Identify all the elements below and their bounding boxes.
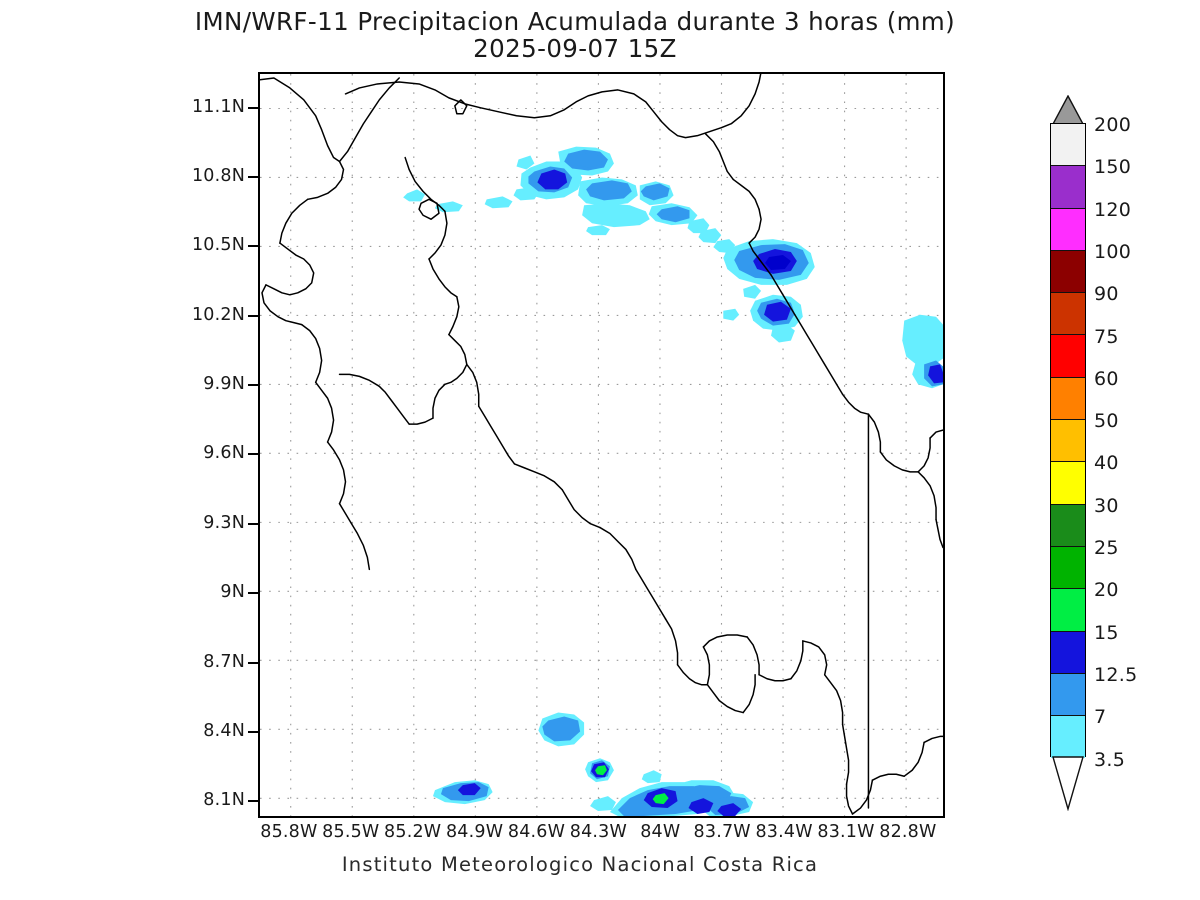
colorbar-band-30-40 bbox=[1051, 462, 1085, 504]
precip-band-3.5-7 bbox=[403, 147, 943, 816]
y-tick-label: 9.3N bbox=[203, 513, 245, 533]
x-axis-labels: 85.8W 85.5W 85.2W 84.9W 84.6W 84.3W 84W … bbox=[0, 822, 1200, 850]
colorbar-tick-label: 7 bbox=[1094, 706, 1106, 728]
precipitation-contours bbox=[260, 74, 943, 816]
colorbar-band-50-60 bbox=[1051, 378, 1085, 420]
x-tick-label: 83.1W bbox=[817, 822, 874, 842]
colorbar-over-range-arrow bbox=[1050, 95, 1086, 125]
colorbar-tick-label: 60 bbox=[1094, 368, 1119, 390]
colorbar-tick-label: 200 bbox=[1094, 114, 1131, 136]
colorbar-tick-label: 40 bbox=[1094, 452, 1119, 474]
colorbar-band-15-20 bbox=[1051, 589, 1085, 631]
colorbar-under-range-arrow bbox=[1050, 755, 1086, 811]
colorbar-swatches bbox=[1050, 123, 1086, 757]
colorbar-tick-label: 25 bbox=[1094, 537, 1119, 559]
colorbar-tick-label: 3.5 bbox=[1094, 749, 1125, 771]
y-tick-label: 11.1N bbox=[192, 97, 245, 117]
x-tick-label: 83.4W bbox=[755, 822, 812, 842]
colorbar-band-60-75 bbox=[1051, 335, 1085, 377]
x-tick-label: 85.5W bbox=[322, 822, 379, 842]
x-tick-label: 85.2W bbox=[384, 822, 441, 842]
colorbar-band-150-200 bbox=[1051, 124, 1085, 166]
y-tick-label: 10.8N bbox=[192, 166, 245, 186]
colorbar-band-12.5-15 bbox=[1051, 632, 1085, 674]
x-tick-label: 84.3W bbox=[570, 822, 627, 842]
x-tick-label: 84W bbox=[640, 822, 680, 842]
colorbar-tick-label: 30 bbox=[1094, 495, 1119, 517]
colorbar-tick-label: 90 bbox=[1094, 283, 1119, 305]
y-tick-label: 10.5N bbox=[192, 235, 245, 255]
precip-band-12.5-15 bbox=[458, 153, 943, 816]
y-tick-label: 9.6N bbox=[203, 443, 245, 463]
colorbar-tick-label: 15 bbox=[1094, 622, 1119, 644]
x-tick-label: 84.9W bbox=[446, 822, 503, 842]
map-canvas bbox=[260, 74, 943, 816]
figure-footer-credit: Instituto Meteorologico Nacional Costa R… bbox=[0, 853, 1160, 876]
colorbar-tick-label: 100 bbox=[1094, 241, 1131, 263]
colorbar-band-120-150 bbox=[1051, 166, 1085, 208]
x-tick-label: 83.7W bbox=[694, 822, 751, 842]
y-tick-label: 9.9N bbox=[203, 374, 245, 394]
colorbar-band-40-50 bbox=[1051, 420, 1085, 462]
precipitation-map-figure: IMN/WRF-11 Precipitacion Acumulada duran… bbox=[0, 0, 1200, 900]
x-tick-label: 85.8W bbox=[260, 822, 317, 842]
y-tick-label: 8.4N bbox=[203, 721, 245, 741]
colorbar-legend: 200 150 120 100 90 75 60 50 40 30 25 20 … bbox=[1050, 95, 1086, 785]
colorbar-band-100-120 bbox=[1051, 209, 1085, 251]
colorbar-tick-label: 50 bbox=[1094, 410, 1119, 432]
x-tick-label: 82.8W bbox=[879, 822, 936, 842]
colorbar-tick-label: 150 bbox=[1094, 156, 1131, 178]
map-plot-area[interactable] bbox=[258, 72, 945, 818]
colorbar-band-90-100 bbox=[1051, 251, 1085, 293]
colorbar-band-7-12.5 bbox=[1051, 674, 1085, 716]
colorbar-band-25-30 bbox=[1051, 505, 1085, 547]
colorbar-band-20-25 bbox=[1051, 547, 1085, 589]
y-axis-labels: 11.1N 10.8N 10.5N 10.2N 9.9N 9.6N 9.3N 9… bbox=[150, 0, 245, 900]
y-tick-label: 9N bbox=[220, 582, 245, 602]
y-tick-label: 10.2N bbox=[192, 305, 245, 325]
colorbar-band-3.5-7 bbox=[1051, 716, 1085, 758]
x-tick-label: 84.6W bbox=[508, 822, 565, 842]
colorbar-tick-label: 120 bbox=[1094, 199, 1131, 221]
colorbar-tick-label: 12.5 bbox=[1094, 664, 1138, 686]
colorbar-tick-label: 75 bbox=[1094, 326, 1119, 348]
y-tick-label: 8.7N bbox=[203, 652, 245, 672]
y-tick-label: 8.1N bbox=[203, 790, 245, 810]
colorbar-band-75-90 bbox=[1051, 293, 1085, 335]
colorbar-tick-label: 20 bbox=[1094, 579, 1119, 601]
